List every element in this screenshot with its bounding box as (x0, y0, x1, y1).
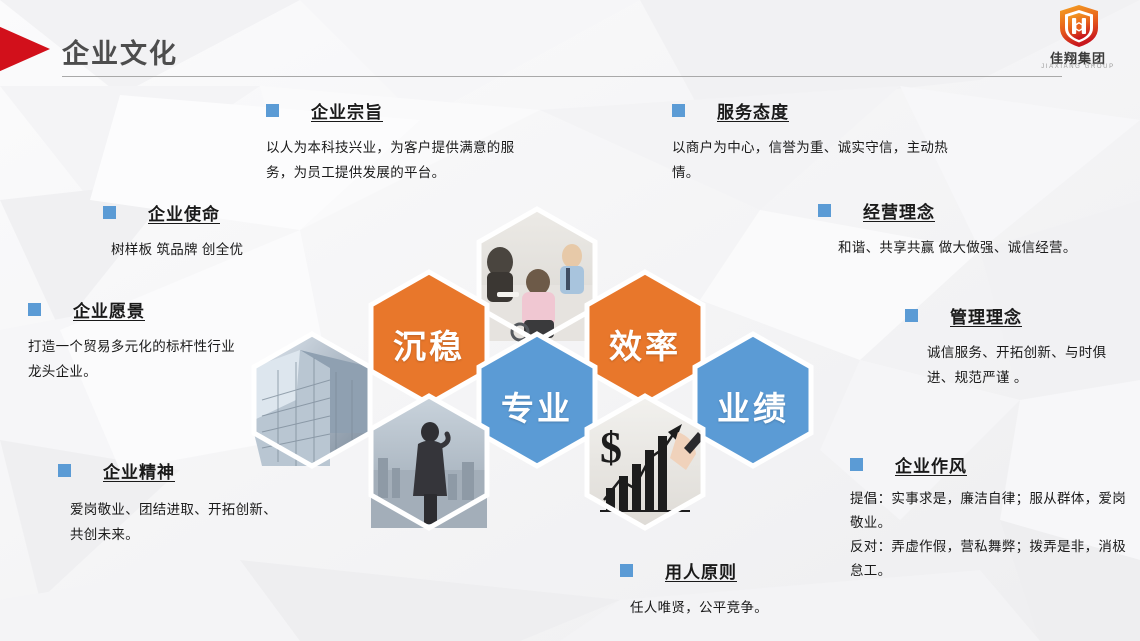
block-employment-principle-head: 用人原则 (620, 558, 860, 583)
block-management-philosophy-body: 诚信服务、开拓创新、与时俱进、规范严谨 。 (927, 340, 1117, 390)
block-vision-body: 打造一个贸易多元化的标杆性行业龙头企业。 (28, 334, 248, 384)
block-service-attitude-title: 服务态度 (717, 98, 789, 123)
block-purpose: 企业宗旨 以人为本科技兴业，为客户提供满意的服务，为员工提供发展的平台。 (266, 98, 522, 185)
block-spirit-body: 爱岗敬业、团结进取、开拓创新、共创未来。 (70, 497, 288, 547)
block-service-attitude-head: 服务态度 (672, 98, 962, 123)
hexagon-skyline-photo (371, 396, 487, 528)
block-purpose-body: 以人为本科技兴业，为客户提供满意的服务，为员工提供发展的平台。 (266, 135, 522, 185)
slide-corporate-culture: 企业文化 佳翔集团 JIAXIANG GROUP (0, 0, 1140, 641)
bullet-square-icon (850, 458, 863, 471)
block-purpose-head: 企业宗旨 (266, 98, 522, 123)
hexagon-meeting-photo (479, 209, 595, 341)
block-mission-head: 企业使命 (103, 200, 333, 225)
block-service-attitude: 服务态度 以商户为中心，信誉为重、诚实守信，主动热情。 (672, 98, 962, 185)
block-purpose-title: 企业宗旨 (311, 98, 383, 123)
bullet-square-icon (58, 464, 71, 477)
block-spirit-head: 企业精神 (58, 458, 288, 483)
block-corporate-style-head: 企业作风 (850, 452, 1130, 477)
block-spirit-title: 企业精神 (103, 458, 175, 483)
bullet-square-icon (905, 309, 918, 322)
hexagon-steady[interactable] (371, 272, 487, 404)
block-business-philosophy-title: 经营理念 (863, 198, 935, 223)
bullet-square-icon (672, 104, 685, 117)
hexagon-performance[interactable] (695, 334, 811, 466)
block-mission-title: 企业使命 (148, 200, 220, 225)
block-employment-principle-title: 用人原则 (665, 558, 737, 583)
block-corporate-style-title: 企业作风 (895, 452, 967, 477)
hexagon-profession[interactable] (479, 334, 595, 466)
block-spirit: 企业精神 爱岗敬业、团结进取、开拓创新、共创未来。 (58, 458, 288, 547)
block-management-philosophy-head: 管理理念 (905, 303, 1117, 328)
block-vision: 企业愿景 打造一个贸易多元化的标杆性行业龙头企业。 (28, 297, 248, 384)
bullet-square-icon (266, 104, 279, 117)
block-service-attitude-body: 以商户为中心，信誉为重、诚实守信，主动热情。 (672, 135, 962, 185)
block-mission-body: 树样板 筑品牌 创全优 (111, 237, 333, 262)
block-management-philosophy-title: 管理理念 (950, 303, 1022, 328)
block-corporate-style: 企业作风 提倡：实事求是，廉洁自律；服从群体，爱岗敬业。 反对：弄虚作假，营私舞… (850, 452, 1130, 583)
block-corporate-style-body: 提倡：实事求是，廉洁自律；服从群体，爱岗敬业。 反对：弄虚作假，营私舞弊；拨弄是… (850, 487, 1130, 583)
bullet-square-icon (818, 204, 831, 217)
block-management-philosophy: 管理理念 诚信服务、开拓创新、与时俱进、规范严谨 。 (905, 303, 1117, 390)
bullet-square-icon (103, 206, 116, 219)
hexagon-building-photo (254, 334, 370, 466)
block-business-philosophy-body: 和谐、共享共赢 做大做强、诚信经营。 (838, 235, 1110, 260)
block-business-philosophy-head: 经营理念 (818, 198, 1110, 223)
hexagon-efficiency[interactable] (587, 272, 703, 404)
svg-text:$: $ (600, 423, 622, 472)
block-vision-title: 企业愿景 (73, 297, 145, 322)
hexagon-growth-photo: $ (587, 396, 704, 528)
block-employment-principle: 用人原则 任人唯贤，公平竞争。 (620, 558, 860, 620)
block-mission: 企业使命 树样板 筑品牌 创全优 (103, 200, 333, 262)
bullet-square-icon (620, 564, 633, 577)
block-vision-head: 企业愿景 (28, 297, 248, 322)
bullet-square-icon (28, 303, 41, 316)
block-business-philosophy: 经营理念 和谐、共享共赢 做大做强、诚信经营。 (818, 198, 1110, 260)
block-employment-principle-body: 任人唯贤，公平竞争。 (630, 595, 860, 620)
